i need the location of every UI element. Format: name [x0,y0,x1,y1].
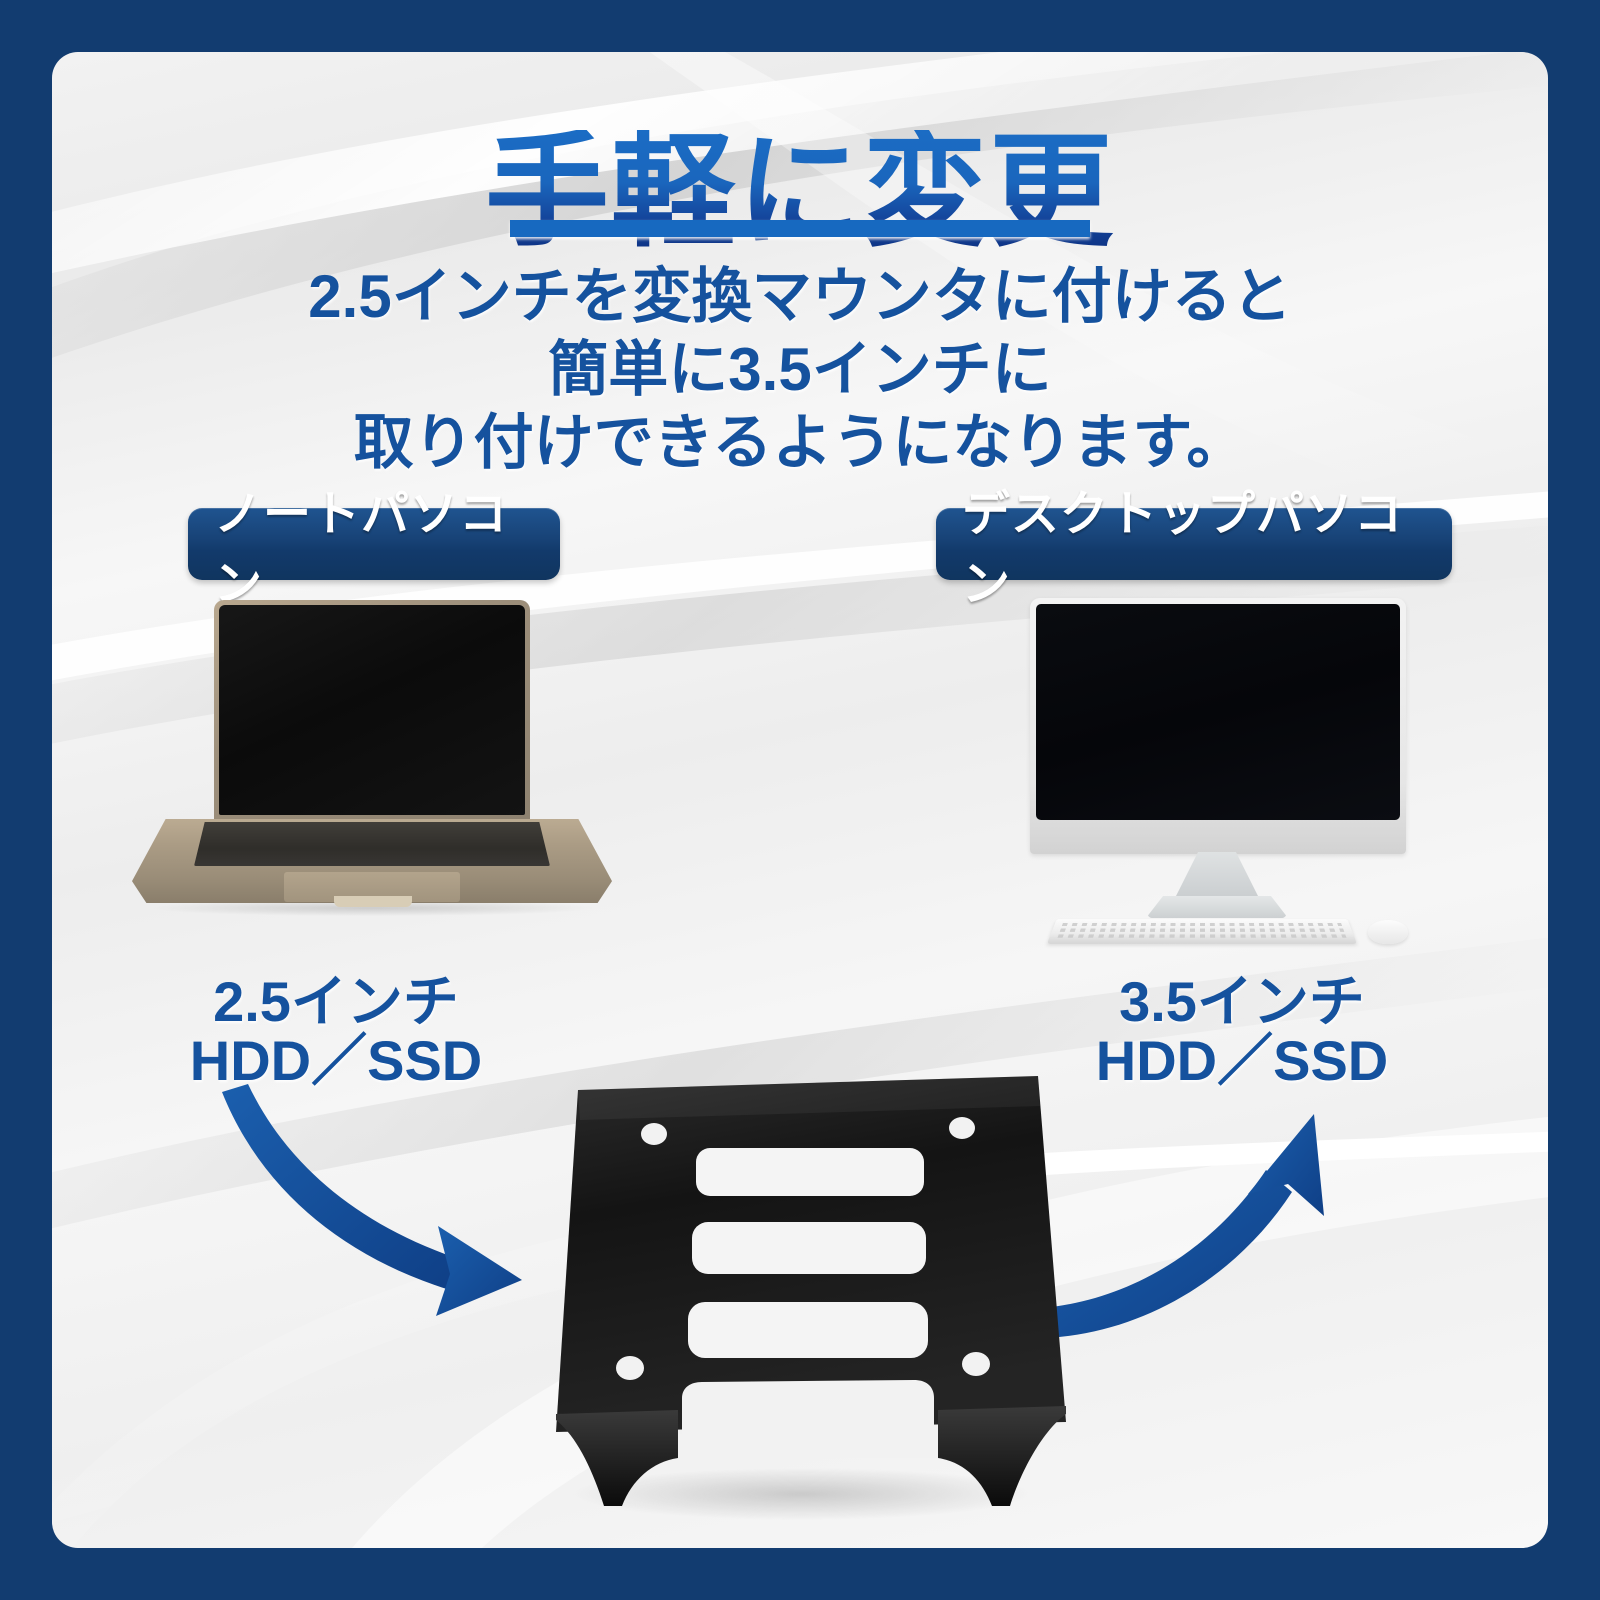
annotation-right-line-1: 3.5インチ [1042,972,1442,1031]
annotation-left-line-1: 2.5インチ [136,972,536,1031]
laptop-front-notch [334,896,412,907]
curved-arrow-down-right-icon [222,1084,522,1316]
laptop-lid [214,600,530,822]
monitor-stand-neck [1174,852,1260,900]
subtitle-block: 2.5インチを変換マウンタに付けると 簡単に3.5インチに 取り付けできるように… [52,260,1548,480]
subtitle-line-3: 取り付けできるようになります。 [52,406,1548,479]
poster-inner-panel: 手軽に変更 2.5インチを変換マウンタに付けると 簡単に3.5インチに 取り付け… [52,52,1548,1548]
laptop-screen [219,605,525,815]
laptop-image [122,600,622,950]
desktop-mouse [1368,920,1408,944]
mounting-bracket-product-image [482,1062,1122,1532]
subtitle-line-1: 2.5インチを変換マウンタに付けると [52,260,1548,333]
annotation-left: 2.5インチ HDD／SSD [136,972,536,1091]
monitor-bezel [1030,598,1406,854]
product-infographic-poster: 手軽に変更 2.5インチを変換マウンタに付けると 簡単に3.5インチに 取り付け… [0,0,1600,1600]
monitor-stand-foot [1146,896,1288,918]
bracket-slots [688,1148,928,1358]
desktop-keyboard [1047,919,1357,944]
subtitle-line-2: 簡単に3.5インチに [52,333,1548,406]
laptop-keyboard [194,822,550,866]
title-underline-rule [510,220,1090,237]
annotation-left-line-2: HDD／SSD [136,1031,536,1090]
monitor-screen [1036,604,1400,820]
badge-laptop: ノートパソコン [188,508,560,580]
desktop-computer-image [988,598,1418,958]
badge-desktop: デスクトップパソコン [936,508,1452,580]
